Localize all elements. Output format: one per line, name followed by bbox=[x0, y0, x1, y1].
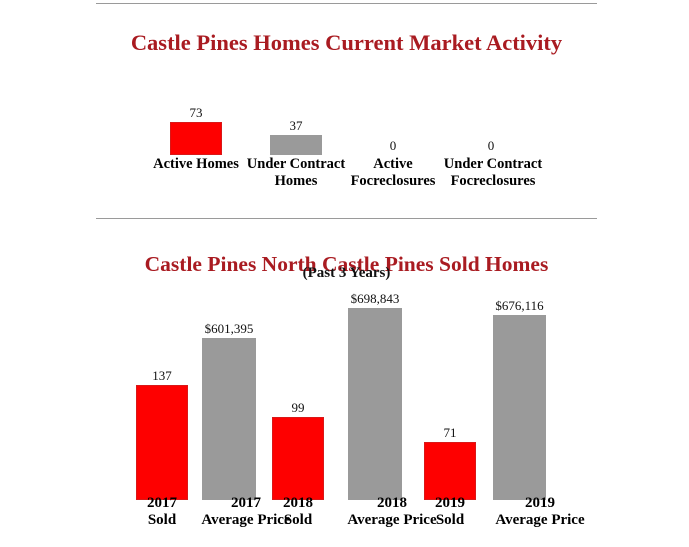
chart1-bar-value: 37 bbox=[246, 118, 346, 133]
cat-line2: Focreclosures bbox=[351, 173, 436, 189]
cat-line1: Active bbox=[373, 156, 412, 172]
chart1-category-label-active-homes: Active Homes bbox=[146, 156, 246, 173]
chart1-category-label-active-foreclosures: Active Focreclosures bbox=[338, 156, 448, 190]
cat-line1: 2018 bbox=[283, 495, 313, 511]
chart2-subtitle: (Past 3 Years) bbox=[96, 265, 597, 282]
chart2-category-label-2019-average-price: 2019 Average Price bbox=[460, 495, 620, 529]
chart1-bar-slot: 0 bbox=[465, 95, 517, 155]
chart2-category-label-2018-sold: 2018 Sold bbox=[262, 495, 334, 529]
chart2-bar-2018-sold: 99 bbox=[272, 417, 324, 500]
chart1-bar-slot: 73 bbox=[170, 95, 222, 155]
chart2-bar-2017-average-price: $601,395 bbox=[202, 338, 256, 500]
chart2-bar-slot: 137 bbox=[136, 285, 188, 500]
cat-line2: Average Price bbox=[495, 512, 584, 528]
chart1-category-label-under-contract-foreclosures: Under Contract Focreclosures bbox=[434, 156, 552, 190]
chart1-bar-active-homes: 73 bbox=[170, 122, 222, 155]
chart1-title: Castle Pines Homes Current Market Activi… bbox=[96, 30, 597, 56]
chart1-bar-slot: 0 bbox=[367, 95, 419, 155]
chart2-bar-2018-average-price: $698,843 bbox=[348, 308, 402, 500]
cat-line2: Focreclosures bbox=[451, 173, 536, 189]
chart1-bar-value: 73 bbox=[146, 105, 246, 120]
chart1-category-label-under-contract-homes: Under Contract Homes bbox=[238, 156, 354, 190]
cat-line2: Sold bbox=[148, 512, 176, 528]
chart1-plot-area: 73 37 0 0 bbox=[0, 95, 689, 155]
cat-line1: 2019 bbox=[525, 495, 555, 511]
cat-line1: Under Contract bbox=[444, 156, 542, 172]
chart2-bar-value: $601,395 bbox=[178, 321, 280, 336]
cat-line1: Active Homes bbox=[153, 156, 239, 172]
cat-line2: Homes bbox=[275, 173, 318, 189]
middle-divider bbox=[96, 218, 597, 219]
cat-line2: Sold bbox=[284, 512, 312, 528]
cat-line1: 2018 bbox=[377, 495, 407, 511]
chart2-bar-value: 99 bbox=[248, 400, 348, 415]
chart2-bar-2019-sold: 71 bbox=[424, 442, 476, 500]
chart1-bar-value: 0 bbox=[441, 138, 541, 153]
chart1-bar-value: 0 bbox=[343, 138, 443, 153]
top-divider bbox=[96, 3, 597, 4]
chart2-bar-slot: 99 bbox=[272, 285, 324, 500]
chart2-bar-2017-sold: 137 bbox=[136, 385, 188, 500]
chart1-bar-under-contract-homes: 37 bbox=[270, 135, 322, 155]
chart2-bar-slot: $601,395 bbox=[202, 285, 256, 500]
chart2-bar-value: 137 bbox=[112, 368, 212, 383]
chart2-bar-slot: $676,116 bbox=[493, 285, 546, 500]
chart2-bar-slot: 71 bbox=[424, 285, 476, 500]
chart2-bar-value: $698,843 bbox=[324, 291, 426, 306]
cat-line1: Under Contract bbox=[247, 156, 345, 172]
cat-line1: 2017 bbox=[147, 495, 177, 511]
chart2-bar-value: $676,116 bbox=[469, 298, 570, 313]
chart2-bar-value: 71 bbox=[400, 425, 500, 440]
chart2-plot-area: 137 $601,395 99 $698,843 71 $676,116 bbox=[0, 285, 689, 500]
cat-line1: 2017 bbox=[231, 495, 261, 511]
chart2-bar-slot: $698,843 bbox=[348, 285, 402, 500]
chart2-bar-2019-average-price: $676,116 bbox=[493, 315, 546, 500]
chart1-bar-slot: 37 bbox=[270, 95, 322, 155]
